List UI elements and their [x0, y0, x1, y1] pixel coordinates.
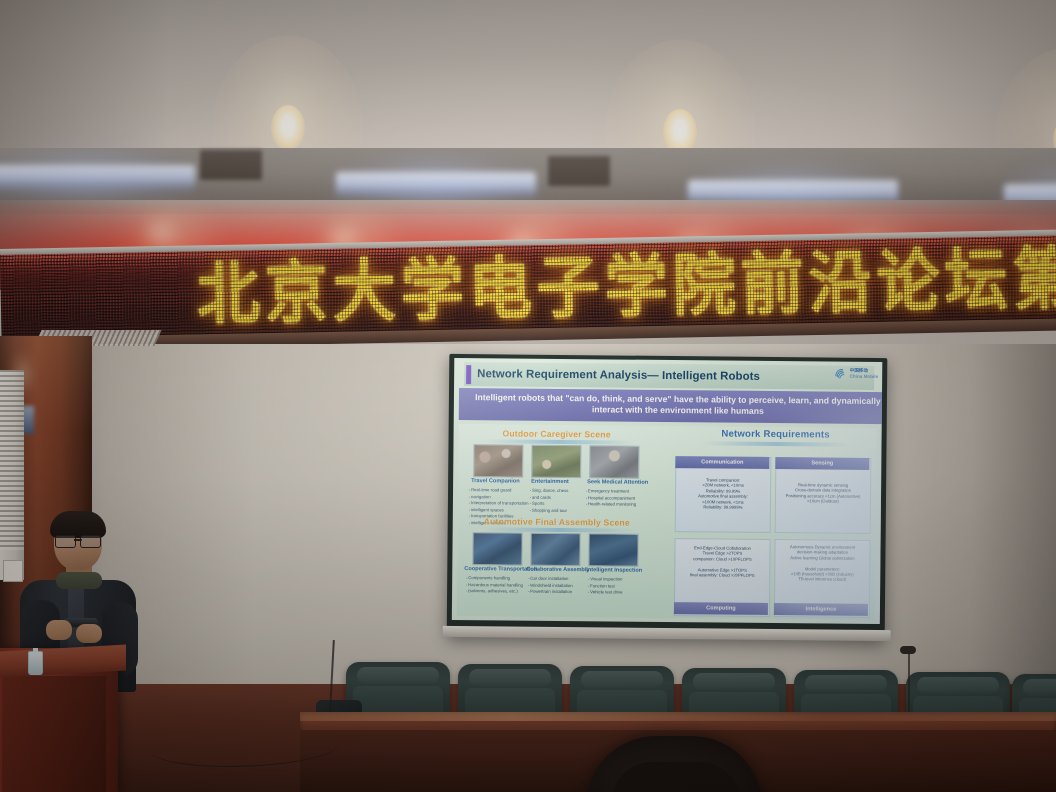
speaker-hand [76, 624, 102, 643]
panel-lines: Autonomous Dynamic environmentdecision-m… [775, 544, 869, 583]
lecture-hall-photo: 北京大学电子学院前沿论坛第92期 Network Requirement Ana… [0, 0, 1056, 792]
card-caption: Travel Companion [471, 478, 520, 485]
title-accent [466, 365, 471, 384]
panel-lines: Real-time dynamic sensingCross-domain da… [776, 482, 870, 505]
card-caption: Entertainment [531, 479, 569, 486]
china-mobile-logo: 中国移动 China Mobile [834, 367, 879, 380]
scene-thumbnail [588, 533, 638, 566]
panel-header-intelligence: Intelligence [774, 603, 868, 616]
ceiling-shading [0, 0, 1056, 152]
card-caption: Collaborative Assembly [526, 567, 589, 574]
speaker-hair [50, 511, 106, 538]
slide-title: Network Requirement Analysis— Intelligen… [477, 368, 760, 383]
logo-text-en: China Mobile [850, 373, 879, 379]
scene-thumbnail [531, 445, 581, 478]
microphone [900, 646, 916, 654]
scene-thumbnail [472, 532, 522, 565]
slide-title-bar: Network Requirement Analysis— Intelligen… [464, 362, 874, 390]
panel-header-communication: Communication [675, 456, 769, 469]
panel-header-computing: Computing [674, 602, 768, 615]
projection-screen: Network Requirement Analysis— Intelligen… [447, 354, 888, 640]
section-heading-requirements: Network Requirements [686, 428, 866, 441]
panel-lines: End-Edge-Cloud CollaborationTravel Edge … [675, 545, 769, 578]
card-bullets: Emergency treatmentHospital accompanimen… [586, 488, 646, 508]
table-reflection [300, 712, 1056, 721]
speaker-collar [56, 572, 102, 589]
slide-subtitle: Intelligent robots that "can do, think, … [459, 388, 883, 424]
card-caption: Seek Medical Attention [587, 479, 648, 486]
card-bullets: Car door installationWindshield installa… [528, 576, 584, 596]
podium-front-panel [2, 676, 106, 792]
section-heading-automotive: Automotive Final Assembly Scene [467, 516, 647, 528]
speaker-hand [46, 620, 72, 640]
scene-thumbnail [589, 445, 639, 478]
card-bullets: Visual inspectionFunction testVehicle te… [588, 576, 644, 596]
soffit-downlight [146, 222, 176, 246]
fluorescent-strip [336, 172, 536, 198]
panel-lines: Travel companion:<20M network, <10msReli… [676, 477, 770, 510]
projected-slide: Network Requirement Analysis— Intelligen… [452, 358, 882, 624]
card-bullets: Components handlingHazardous material ha… [466, 575, 524, 595]
scene-thumbnail [530, 533, 580, 566]
panel-header-sensing: Sensing [775, 457, 869, 470]
scene-thumbnail [473, 444, 523, 477]
card-caption: Intelligent Inspection [586, 567, 642, 574]
water-bottle [28, 651, 43, 675]
card-bullets: Sing, dance, chessand cardsSportsShoppin… [530, 488, 586, 515]
section-heading-outdoor: Outdoor Caregiver Scene [472, 428, 642, 440]
eyeglasses-icon [55, 535, 101, 546]
fluorescent-strip [0, 165, 195, 191]
soffit-gap [548, 156, 610, 186]
soffit-gap [200, 150, 262, 180]
